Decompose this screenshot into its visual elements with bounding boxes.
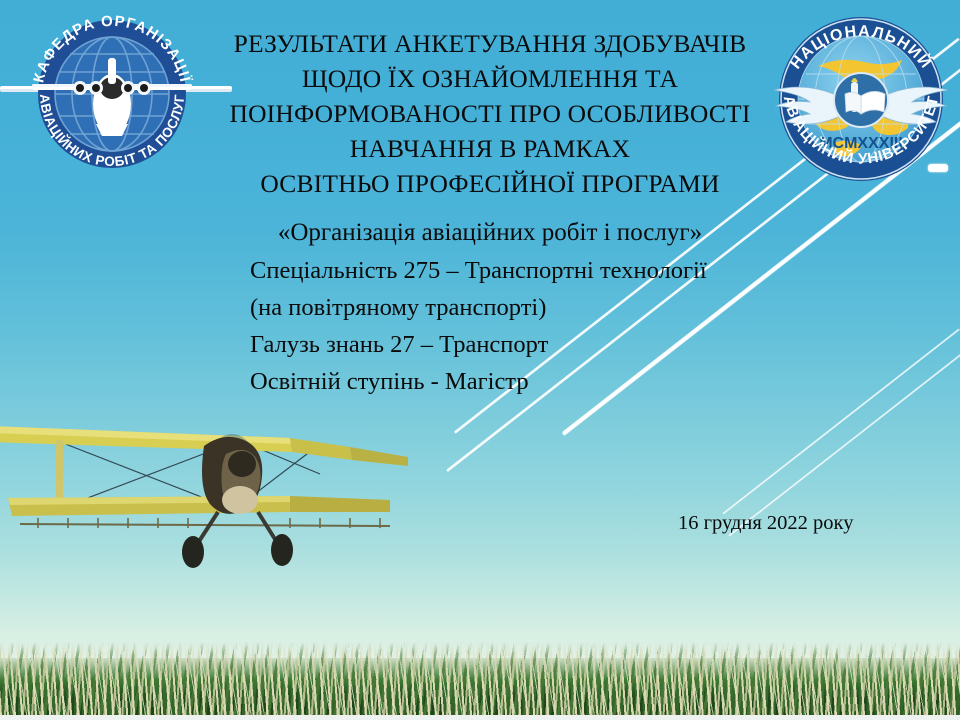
grass-light-tips (0, 642, 960, 716)
detail-line: (на повітряному транспорті) (250, 289, 850, 326)
title-line: ОСВІТНЬО ПРОФЕСІЙНОЇ ПРОГРАМИ (170, 166, 810, 201)
crop-duster-biplane-icon (0, 400, 410, 590)
programme-details: Спеціальність 275 – Транспортні технолог… (250, 252, 850, 400)
title-line: ПОІНФОРМОВАНОСТІ ПРО ОСОБЛИВОСТІ (170, 96, 810, 131)
detail-line: Галузь знань 27 – Транспорт (250, 326, 850, 363)
detail-line: Спеціальність 275 – Транспортні технолог… (250, 252, 850, 289)
slide-bottom-edge (0, 715, 960, 720)
detail-line: Освітній ступінь - Магістр (250, 363, 850, 400)
title-line: ЩОДО ЇХ ОЗНАЙОМЛЕННЯ ТА (170, 61, 810, 96)
slide-title: РЕЗУЛЬТАТИ АНКЕТУВАННЯ ЗДОБУВАЧІВ ЩОДО Ї… (170, 26, 810, 201)
slide-date: 16 грудня 2022 року (678, 512, 853, 535)
title-line: НАВЧАННЯ В РАМКАХ (170, 131, 810, 166)
presentation-slide: КАФЕДРА ОРГАНІЗАЦІЇ АВІАЦІЙНИХ РОБІТ ТА … (0, 0, 960, 720)
title-line: РЕЗУЛЬТАТИ АНКЕТУВАННЯ ЗДОБУВАЧІВ (170, 26, 810, 61)
programme-name: «Організація авіаційних робіт і послуг» (170, 216, 810, 250)
grass-field (0, 628, 960, 720)
